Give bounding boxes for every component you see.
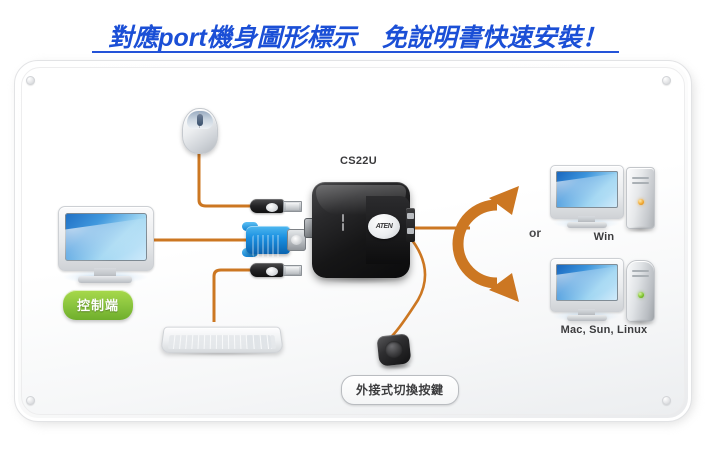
- remote-switch-icon: [378, 335, 412, 369]
- keyboard-body: [160, 327, 284, 353]
- mouse-body: [182, 108, 218, 154]
- usb-connector-bottom: [250, 262, 302, 278]
- usb-shell: [250, 263, 284, 277]
- tower-drive-slot: [632, 182, 649, 184]
- usb-logo: [266, 203, 278, 212]
- device-body: ATEN: [312, 182, 410, 278]
- usb-metal-tip: [283, 265, 302, 276]
- usb-shell: [250, 199, 284, 213]
- computer-label-mac-sun-linux: Mac, Sun, Linux: [535, 324, 673, 336]
- usb-logo: [266, 267, 278, 276]
- tower-power-led: [638, 292, 644, 298]
- usb-metal-tip: [283, 201, 302, 212]
- device-usb-ports: [406, 208, 415, 242]
- tower-drive-slot: [632, 177, 649, 179]
- kvm-switch-device: ATEN: [312, 182, 410, 278]
- diagram-stage: 對應port機身圖形標示 免說明書快速安裝！: [0, 0, 715, 456]
- computer-label-win: Win: [548, 231, 660, 243]
- panel-screw-bottom-right: [662, 396, 671, 405]
- computer-base: [567, 315, 607, 321]
- computer-win: Win: [550, 165, 658, 239]
- panel-screw-bottom-left: [26, 396, 35, 405]
- computer-monitor: [550, 258, 624, 312]
- page-title: 對應port機身圖形標示 免說明書快速安裝！: [0, 18, 715, 54]
- usb-connector-top: [250, 198, 302, 214]
- vga-connector: [246, 220, 306, 260]
- computer-mac-sun-linux: Mac, Sun, Linux: [550, 258, 658, 332]
- computer-monitor: [550, 165, 624, 219]
- computer-screen: [556, 264, 618, 301]
- keyboard-icon: [162, 322, 280, 354]
- mouse-icon: [182, 108, 216, 152]
- tower-power-led: [638, 199, 644, 205]
- monitor-bezel: [58, 206, 154, 271]
- computer-screen: [556, 171, 618, 208]
- monitor-screen: [65, 213, 147, 261]
- computer-tower: [626, 260, 655, 322]
- computer-base: [567, 222, 607, 228]
- device-brand-logo: ATEN: [368, 214, 400, 239]
- branch-or-label: or: [529, 226, 541, 240]
- panel-screw-top-left: [26, 76, 35, 85]
- monitor-base: [78, 276, 132, 283]
- panel-screw-top-right: [662, 76, 671, 85]
- console-monitor: [58, 206, 152, 290]
- remote-switch-callout: 外接式切換按鍵: [341, 375, 459, 405]
- vga-grip-ridges: [252, 235, 282, 257]
- console-badge: 控制端: [63, 290, 133, 320]
- device-brand-text: ATEN: [368, 214, 400, 239]
- vga-hood: [246, 226, 290, 254]
- keyboard-numpad: [247, 335, 272, 349]
- device-led-indicators: [342, 214, 344, 222]
- tower-drive-slot: [632, 270, 649, 272]
- tower-drive-slot: [632, 275, 649, 277]
- title-underline: [92, 51, 619, 53]
- device-model-label: CS22U: [340, 155, 377, 167]
- computer-tower: [626, 167, 655, 229]
- mouse-wheel: [197, 114, 203, 126]
